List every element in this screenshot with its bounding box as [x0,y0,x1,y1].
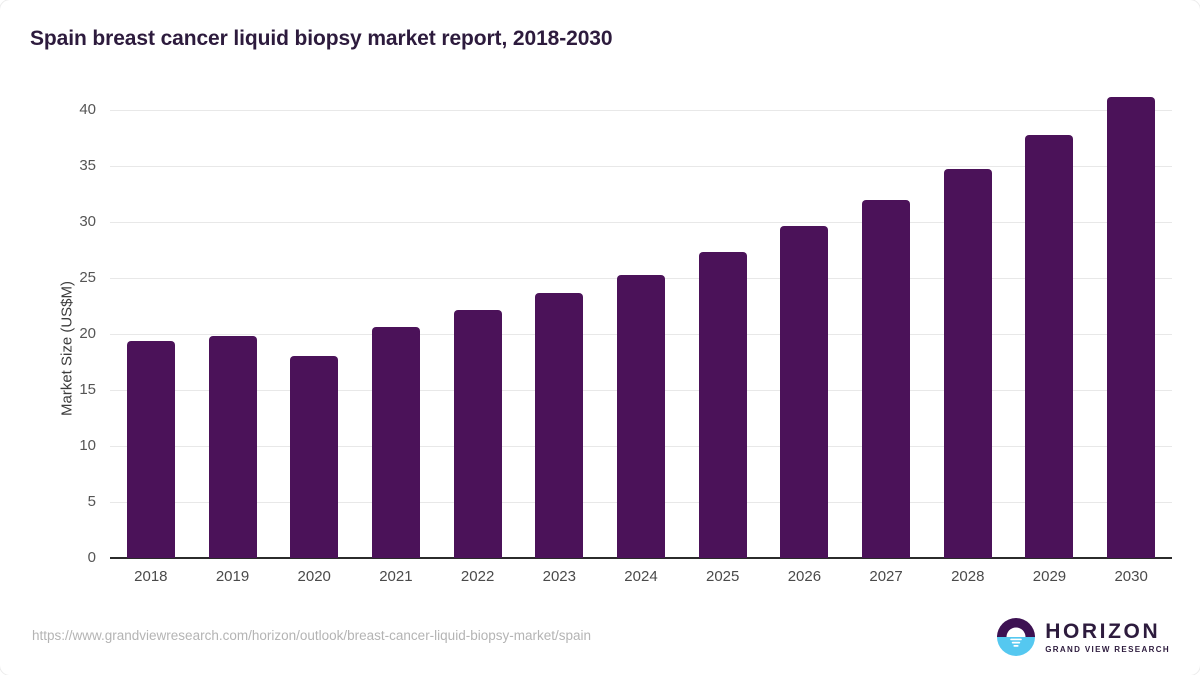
bar-2026[interactable] [780,226,828,558]
x-axis-tick-label: 2023 [518,568,600,585]
bar-2019[interactable] [209,336,257,558]
x-axis-tick-label: 2018 [110,568,192,585]
bar-2020[interactable] [290,356,338,558]
bar-2018[interactable] [127,341,175,558]
x-axis-tick-label: 2021 [355,568,437,585]
x-axis-tick-label: 2020 [273,568,355,585]
x-axis-tick-label: 2024 [600,568,682,585]
bar-2024[interactable] [617,275,665,558]
horizon-logo: HORIZON GRAND VIEW RESEARCH [996,617,1170,657]
bar-2022[interactable] [454,310,502,558]
x-axis-tick-label: 2019 [192,568,274,585]
chart-screenshot: Spain breast cancer liquid biopsy market… [0,0,1200,675]
source-url[interactable]: https://www.grandviewresearch.com/horizo… [32,628,591,643]
bars-group: 2018201920202021202220232024202520262027… [0,0,1200,675]
x-axis-tick-label: 2030 [1090,568,1172,585]
x-axis-tick-label: 2028 [927,568,1009,585]
bar-2025[interactable] [699,252,747,558]
x-axis-tick-label: 2025 [682,568,764,585]
bar-2030[interactable] [1107,97,1155,558]
x-axis-tick-label: 2022 [437,568,519,585]
chart-plot-area: Market Size (US$M) 0510152025303540 2018… [0,0,1200,675]
bar-2027[interactable] [862,200,910,558]
bar-2028[interactable] [944,169,992,558]
bar-2029[interactable] [1025,135,1073,558]
horizon-sun-logo-icon [996,617,1036,657]
bar-2021[interactable] [372,327,420,558]
horizon-logo-text: HORIZON GRAND VIEW RESEARCH [1045,621,1170,654]
x-axis-tick-label: 2027 [845,568,927,585]
bar-2023[interactable] [535,293,583,558]
x-axis-tick-label: 2029 [1009,568,1091,585]
logo-brand-name: HORIZON [1045,621,1170,642]
x-axis-tick-label: 2026 [764,568,846,585]
logo-tagline: GRAND VIEW RESEARCH [1045,646,1170,654]
